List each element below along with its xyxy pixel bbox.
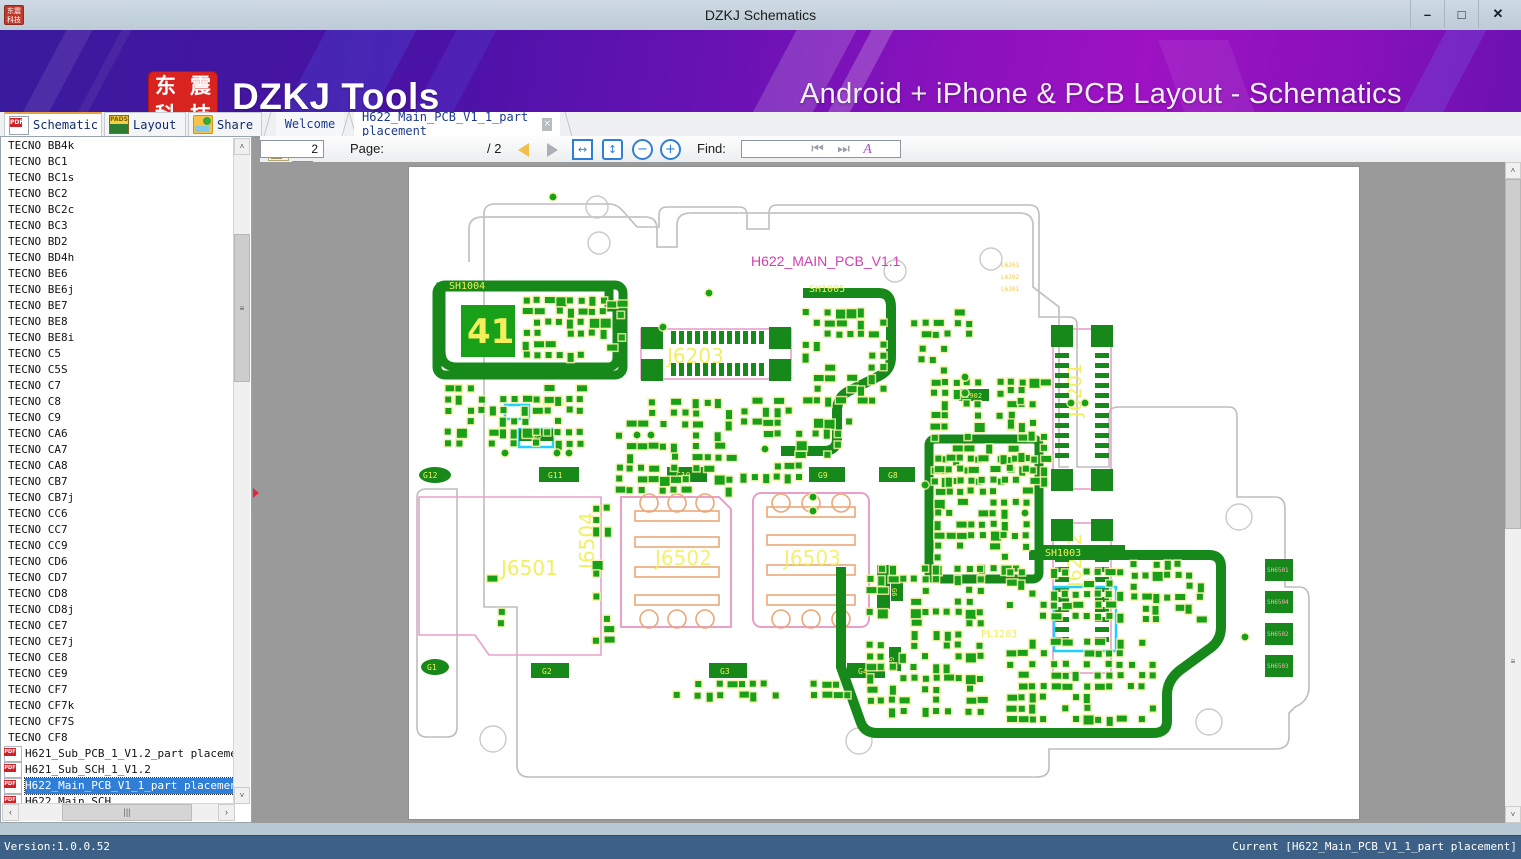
svg-text:G1: G1 <box>427 663 437 672</box>
folder-share-icon <box>193 115 213 134</box>
list-item-model[interactable]: TECNO CD8 <box>2 586 235 602</box>
list-item-model[interactable]: TECNO CD8j <box>2 602 235 618</box>
list-item-model[interactable]: TECNO BD4h <box>2 250 235 266</box>
prev-page-icon[interactable] <box>518 143 529 157</box>
list-item-model[interactable]: TECNO BC3 <box>2 218 235 234</box>
page-label: Page: <box>350 141 384 156</box>
tab-layout-label: Layout <box>133 118 176 132</box>
list-item-model[interactable]: TECNO CE9 <box>2 666 235 682</box>
fit-page-icon[interactable]: ↕ <box>602 139 623 160</box>
list-item-label: TECNO BC3 <box>8 219 68 232</box>
model-list-panel: TECNO BB4kTECNO BC1TECNO BC1sTECNO BC2TE… <box>0 136 252 823</box>
splitter-collapse-icon[interactable] <box>253 488 259 498</box>
tab-layout[interactable]: Layout <box>104 112 186 136</box>
hscroll-right-icon[interactable]: › <box>218 804 235 821</box>
list-item-model[interactable]: TECNO CA8 <box>2 458 235 474</box>
list-item-model[interactable]: TECNO CF8 <box>2 730 235 746</box>
find-options-icon[interactable]: A <box>858 140 877 159</box>
logo-char-1: 东 <box>148 73 183 99</box>
list-item-label: TECNO BD4h <box>8 251 74 264</box>
list-item-label: TECNO CD7 <box>8 571 68 584</box>
list-item-model[interactable]: TECNO CA6 <box>2 426 235 442</box>
sidebar-vertical-scrollbar[interactable]: ˄ ≡ ˅ <box>233 138 250 804</box>
list-item-label: TECNO CB7j <box>8 491 74 504</box>
svg-text:J6502: J6502 <box>653 546 712 570</box>
pdf-icon <box>4 746 22 762</box>
list-item-label: TECNO C8 <box>8 395 61 408</box>
list-item-model[interactable]: TECNO BC2 <box>2 186 235 202</box>
list-item-label: TECNO CB7 <box>8 475 68 488</box>
pcb-svg: H622_MAIN_PCB_V1.1 SH1004 41 <box>409 167 1359 819</box>
tab-share-label: Share <box>217 118 253 132</box>
svg-text:SH1005: SH1005 <box>809 284 845 295</box>
list-item-label: TECNO BE8 <box>8 315 68 328</box>
list-item-label: TECNO BD2 <box>8 235 68 248</box>
list-item-model[interactable]: TECNO CF7 <box>2 682 235 698</box>
list-item-model[interactable]: TECNO BE6j <box>2 282 235 298</box>
list-item-model[interactable]: TECNO C7 <box>2 378 235 394</box>
pdf-icon <box>9 116 29 135</box>
pdf-icon <box>4 778 22 794</box>
pdf-viewer: H622_MAIN_PCB_V1.1 SH1004 41 <box>260 162 1521 823</box>
logo-char-4: 技 <box>183 102 218 113</box>
doc-tab-welcome[interactable]: Welcome <box>276 112 344 136</box>
svg-text:G8: G8 <box>888 471 898 480</box>
list-item-label: TECNO CA6 <box>8 427 68 440</box>
tab-schematic-label: Schematic <box>33 118 98 132</box>
list-item-label: H621_Sub_PCB_1_V1.2_part placement <box>25 746 235 762</box>
tab-strip: Schematic Layout Share Welcome H622_Main… <box>0 112 1521 137</box>
list-item-label: TECNO BC1s <box>8 171 74 184</box>
list-item-label: TECNO CF7k <box>8 699 74 712</box>
list-item-model[interactable]: TECNO CC7 <box>2 522 235 538</box>
inductor-labels: L6203 L6202 L6201 <box>1001 262 1019 293</box>
list-item-label: TECNO CE7j <box>8 635 74 648</box>
list-item-model[interactable]: TECNO C9 <box>2 410 235 426</box>
list-item-pdf[interactable]: H622_Main_PCB_V1_1_part placement <box>2 778 235 794</box>
list-item-model[interactable]: TECNO BE6 <box>2 266 235 282</box>
page-input[interactable]: 2 <box>260 140 324 158</box>
svg-text:G9: G9 <box>818 471 828 480</box>
close-icon[interactable]: × <box>542 118 552 131</box>
list-item-model[interactable]: TECNO CE8 <box>2 650 235 666</box>
list-item-model[interactable]: TECNO BE8 <box>2 314 235 330</box>
list-item-model[interactable]: TECNO BE7 <box>2 298 235 314</box>
list-item-label: TECNO CF7S <box>8 715 74 728</box>
pdf-page[interactable]: H622_MAIN_PCB_V1.1 SH1004 41 <box>408 166 1360 820</box>
list-item-label: TECNO BE7 <box>8 299 68 312</box>
page-total: / 2 <box>487 141 501 156</box>
zoom-in-icon[interactable]: + <box>660 139 681 160</box>
svg-text:SH1004: SH1004 <box>449 281 485 292</box>
list-item-model[interactable]: TECNO CF7k <box>2 698 235 714</box>
list-item-label: TECNO BC1 <box>8 155 68 168</box>
svg-text:G3: G3 <box>720 667 730 676</box>
list-item-label: TECNO CC7 <box>8 523 68 536</box>
list-item-label: TECNO CE8 <box>8 651 68 664</box>
application-window: 东震科技 DZKJ Schematics – □ ✕ 东 震 科 技 DZKJ … <box>0 0 1521 859</box>
scroll-grip-mark: ≡ <box>1505 652 1521 672</box>
pdf-toolbar: Page: 2 / 2 ↔ ↕ − + Find: ⏮ ⏭ A <box>260 136 1521 163</box>
list-item-label: H621_Sub_SCH_1_V1.2 <box>25 762 151 778</box>
brand-banner: 东 震 科 技 DZKJ Tools Android + iPhone & PC… <box>0 30 1521 112</box>
scroll-thumb[interactable] <box>1505 179 1521 529</box>
list-item-label: TECNO CA7 <box>8 443 68 456</box>
list-item-label: TECNO CC9 <box>8 539 68 552</box>
scroll-up-icon[interactable]: ˄ <box>1505 162 1521 179</box>
ic-main-bga: 41 <box>461 305 515 357</box>
scroll-up-icon[interactable]: ˄ <box>234 138 250 155</box>
svg-text:G6: G6 <box>890 588 898 596</box>
list-item-label: H622_Main_PCB_V1_1_part placement <box>25 778 235 794</box>
hscroll-left-icon[interactable]: ‹ <box>2 804 19 821</box>
title-bar: 东震科技 DZKJ Schematics – □ ✕ <box>0 0 1521 31</box>
hscroll-thumb[interactable]: ||| <box>62 804 192 821</box>
svg-text:SH6501: SH6501 <box>1267 567 1289 574</box>
tab-share[interactable]: Share <box>188 112 262 136</box>
list-item-label: TECNO CA8 <box>8 459 68 472</box>
list-item-model[interactable]: TECNO CC9 <box>2 538 235 554</box>
version-text: Version:1.0.0.52 <box>4 840 110 853</box>
fit-width-icon[interactable]: ↔ <box>572 139 593 160</box>
list-item-model[interactable]: TECNO BD2 <box>2 234 235 250</box>
list-item-model[interactable]: TECNO BB4k <box>2 138 235 154</box>
svg-text:SH6504: SH6504 <box>1267 599 1289 606</box>
find-next-icon[interactable]: ⏭ <box>834 140 853 159</box>
list-item-label: TECNO C9 <box>8 411 61 424</box>
list-item-model[interactable]: TECNO CF7S <box>2 714 235 730</box>
list-item-model[interactable]: TECNO BC1 <box>2 154 235 170</box>
banner-tagline: Android + iPhone & PCB Layout - Schemati… <box>800 78 1402 111</box>
scroll-down-icon[interactable]: ˅ <box>1505 806 1521 823</box>
scroll-down-icon[interactable]: ˅ <box>234 787 250 804</box>
status-bar: Version:1.0.0.52 Current [H622_Main_PCB_… <box>0 835 1521 859</box>
close-button[interactable]: ✕ <box>1478 0 1521 28</box>
pcb-drawing: H622_MAIN_PCB_V1.1 SH1004 41 <box>409 167 1359 819</box>
svg-text:G12: G12 <box>423 471 438 480</box>
panel-splitter[interactable] <box>252 136 260 823</box>
svg-text:G2: G2 <box>542 667 552 676</box>
list-item-label: TECNO BE6 <box>8 267 68 280</box>
list-item-model[interactable]: TECNO CB7j <box>2 490 235 506</box>
svg-text:L6203: L6203 <box>1001 262 1019 269</box>
list-item-model[interactable]: TECNO CE7j <box>2 634 235 650</box>
logo-char-2: 震 <box>183 73 218 99</box>
list-item-model[interactable]: TECNO CD7 <box>2 570 235 586</box>
brand-title: DZKJ Tools <box>232 76 440 112</box>
sidebar-horizontal-scrollbar[interactable]: ‹ ||| › <box>2 803 235 821</box>
list-item-label: TECNO BE8i <box>8 331 74 344</box>
window-controls: – □ ✕ <box>1410 0 1521 28</box>
list-item-label: TECNO BC2 <box>8 187 68 200</box>
list-item-label: TECNO BB4k <box>8 139 74 152</box>
svg-text:J6503: J6503 <box>782 546 841 570</box>
next-page-icon[interactable] <box>547 143 558 157</box>
window-title: DZKJ Schematics <box>0 0 1521 30</box>
tab-schematic[interactable]: Schematic <box>4 112 102 136</box>
scroll-thumb[interactable]: ≡ <box>234 234 250 382</box>
list-item-pdf[interactable]: H621_Sub_PCB_1_V1.2_part placement <box>2 746 235 762</box>
doc-tab-h622-label: H622_Main_PCB_V1_1_part placement <box>362 110 537 138</box>
list-item-model[interactable]: TECNO CB7 <box>2 474 235 490</box>
list-item-model[interactable]: TECNO BC2c <box>2 202 235 218</box>
svg-text:PL1203: PL1203 <box>981 629 1017 640</box>
list-item-pdf[interactable]: H621_Sub_SCH_1_V1.2 <box>2 762 235 778</box>
list-item-label: TECNO C5S <box>8 363 68 376</box>
pdf-icon <box>4 762 22 778</box>
list-item-label: TECNO BC2c <box>8 203 74 216</box>
svg-text:41: 41 <box>467 312 514 352</box>
zoom-out-icon[interactable]: − <box>632 139 653 160</box>
svg-text:SH6503: SH6503 <box>1267 663 1289 670</box>
viewer-vertical-scrollbar[interactable]: ˄ ≡ ˅ <box>1505 162 1521 823</box>
list-item-label: TECNO CE7 <box>8 619 68 632</box>
list-item-model[interactable]: TECNO C5S <box>2 362 235 378</box>
list-item-label: TECNO CF7 <box>8 683 68 696</box>
list-item-model[interactable]: TECNO CE7 <box>2 618 235 634</box>
dzkj-logo: 东 震 科 技 <box>148 71 218 112</box>
find-prev-icon[interactable]: ⏮ <box>808 140 827 159</box>
pcb-title-text: H622_MAIN_PCB_V1.1 <box>751 253 901 269</box>
logo-char-3: 科 <box>148 102 183 113</box>
list-item-label: TECNO CD8j <box>8 603 74 616</box>
svg-text:SH6502: SH6502 <box>1267 631 1289 638</box>
maximize-button[interactable]: □ <box>1444 0 1478 28</box>
list-item-model[interactable]: TECNO BE8i <box>2 330 235 346</box>
list-item-model[interactable]: TECNO CD6 <box>2 554 235 570</box>
svg-text:J6501: J6501 <box>499 556 558 580</box>
current-file-text: Current [H622_Main_PCB_V1_1_part placeme… <box>1232 840 1517 853</box>
svg-text:G11: G11 <box>548 471 563 480</box>
list-item-label: TECNO C7 <box>8 379 61 392</box>
list-item-model[interactable]: TECNO BC1s <box>2 170 235 186</box>
list-item-model[interactable]: TECNO CC6 <box>2 506 235 522</box>
list-item-label: TECNO CD6 <box>8 555 68 568</box>
list-item-model[interactable]: TECNO CA7 <box>2 442 235 458</box>
list-item-model[interactable]: TECNO C8 <box>2 394 235 410</box>
tab-edge <box>264 112 282 136</box>
doc-tab-h622[interactable]: H622_Main_PCB_V1_1_part placement × <box>354 112 560 136</box>
pads-icon <box>109 115 129 134</box>
list-item-label: TECNO CC6 <box>8 507 68 520</box>
list-item-label: TECNO CE9 <box>8 667 68 680</box>
svg-text:J6201: J6201 <box>1064 363 1086 418</box>
svg-text:SH1003: SH1003 <box>1045 548 1081 559</box>
list-item-label: TECNO C5 <box>8 347 61 360</box>
model-list[interactable]: TECNO BB4kTECNO BC1TECNO BC1sTECNO BC2TE… <box>2 138 235 804</box>
list-item-model[interactable]: TECNO C5 <box>2 346 235 362</box>
minimize-button[interactable]: – <box>1410 0 1444 28</box>
svg-text:L6202: L6202 <box>1001 274 1019 281</box>
list-item-label: TECNO CF8 <box>8 731 68 744</box>
find-label: Find: <box>697 141 726 156</box>
tab-edge <box>555 112 573 136</box>
doc-tab-welcome-label: Welcome <box>285 117 336 131</box>
list-item-label: TECNO CD8 <box>8 587 68 600</box>
list-item-label: TECNO BE6j <box>8 283 74 296</box>
svg-text:L6201: L6201 <box>1001 286 1019 293</box>
